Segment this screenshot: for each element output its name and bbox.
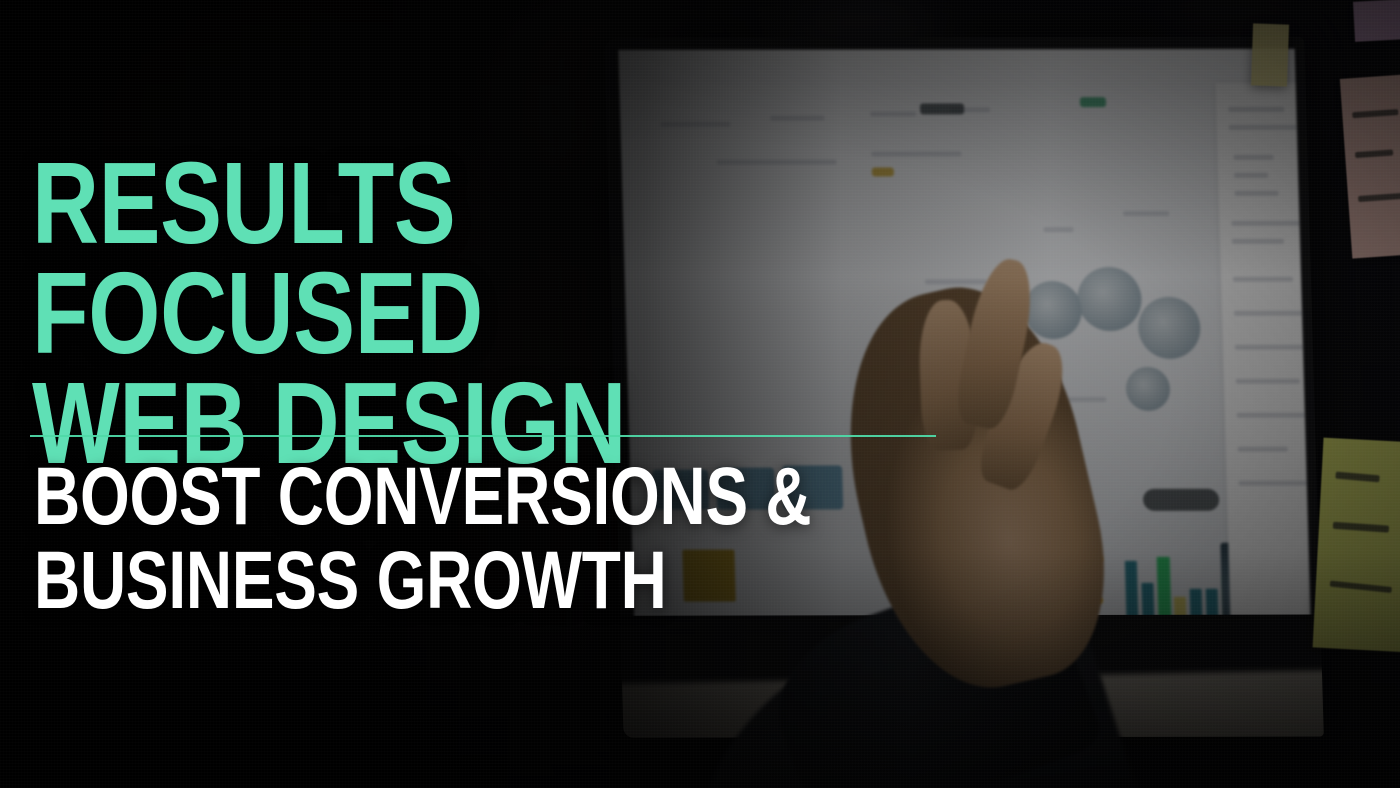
banner-content: RESULTS FOCUSED WEB DESIGN BOOST CONVERS…	[0, 0, 1400, 788]
hero-banner: RESULTS FOCUSED WEB DESIGN BOOST CONVERS…	[0, 0, 1400, 788]
page-subtitle: BOOST CONVERSIONS & BUSINESS GROWTH	[34, 455, 814, 622]
accent-divider	[30, 435, 936, 437]
page-title: RESULTS FOCUSED WEB DESIGN	[32, 148, 832, 479]
